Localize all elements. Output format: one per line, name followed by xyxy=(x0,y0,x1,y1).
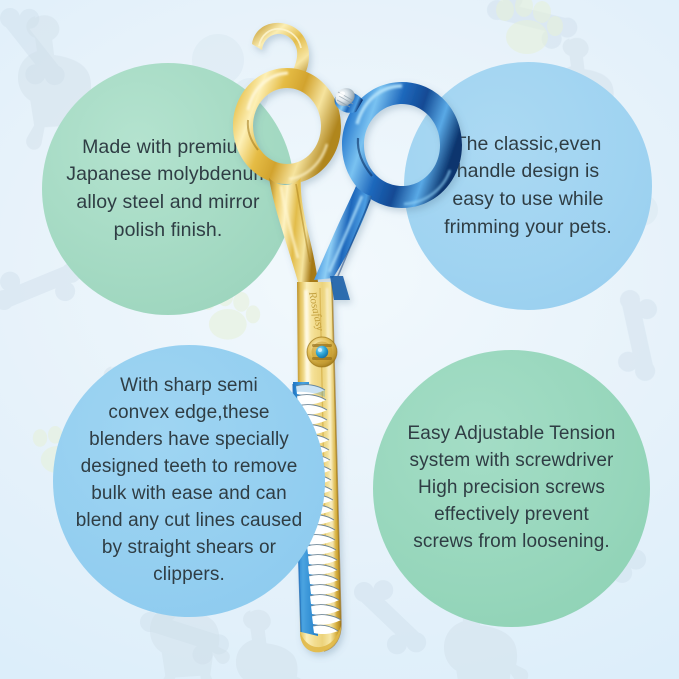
feature-bubble-handle-design: The classic,even handle design is easy t… xyxy=(404,62,652,310)
feature-text-handle-design: The classic,even handle design is easy t… xyxy=(428,131,628,242)
feature-text-tension-system: Easy Adjustable Tension system with scre… xyxy=(400,421,624,556)
product-infographic: Rosafasy xyxy=(0,0,679,679)
feature-bubble-tension-system: Easy Adjustable Tension system with scre… xyxy=(373,350,650,627)
feature-text-blade-teeth: With sharp semi convex edge,these blende… xyxy=(70,373,309,589)
feature-bubble-material: Made with premium Japanese molybdenum al… xyxy=(42,63,294,315)
feature-text-material: Made with premium Japanese molybdenum al… xyxy=(52,134,284,245)
feature-bubble-blade-teeth: With sharp semi convex edge,these blende… xyxy=(53,345,325,617)
